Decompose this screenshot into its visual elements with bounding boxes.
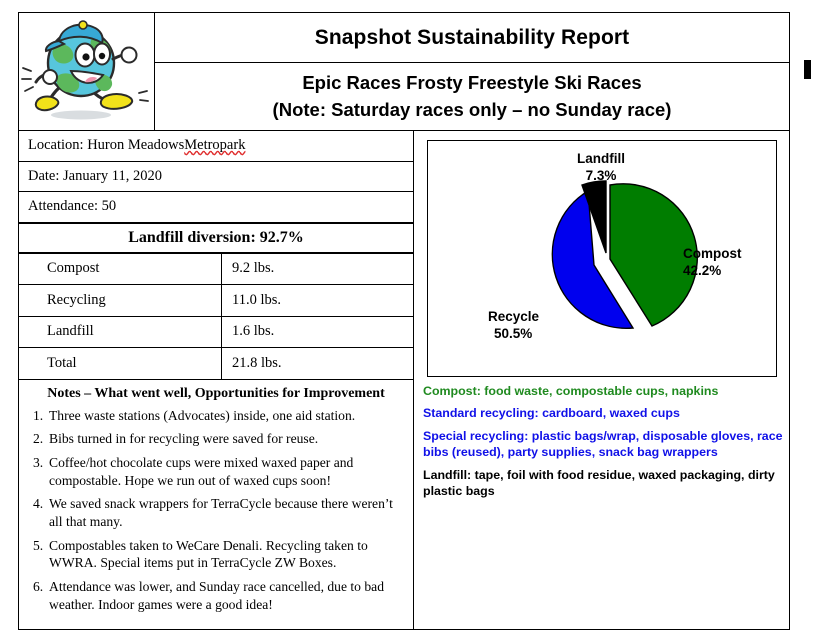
note-number: 6. — [29, 578, 49, 613]
pie-chart-svg: Landfill 7.3% Compost 42.2% Recycle 50.5… — [428, 141, 775, 375]
list-item: 3. Coffee/hot chocolate cups were mixed … — [29, 454, 403, 489]
notes-section: Notes – What went well, Opportunities fo… — [19, 380, 413, 630]
page-title: Snapshot Sustainability Report — [155, 13, 789, 63]
report-body: Location: Huron Meadows Metropark Date: … — [19, 131, 789, 629]
note-number: 1. — [29, 407, 49, 425]
weights-value: 9.2 lbs. — [222, 260, 413, 277]
note-number: 2. — [29, 430, 49, 448]
table-row: Compost 9.2 lbs. — [19, 254, 413, 286]
date-row: Date: January 11, 2020 — [19, 162, 413, 193]
note-text: Coffee/hot chocolate cups were mixed wax… — [49, 454, 403, 489]
legend-compost: Compost: food waste, compostable cups, n… — [423, 383, 791, 399]
legend-landfill: Landfill: tape, foil with food residue, … — [423, 467, 791, 500]
weights-label: Recycling — [19, 285, 222, 316]
note-text: Bibs turned in for recycling were saved … — [49, 430, 403, 448]
materials-legend: Compost: food waste, compostable cups, n… — [423, 383, 791, 505]
list-item: 4. We saved snack wrappers for TerraCycl… — [29, 495, 403, 530]
event-title-line2: (Note: Saturday races only – no Sunday r… — [273, 97, 672, 123]
attendance-row: Attendance: 50 — [19, 192, 413, 223]
report-header: Snapshot Sustainability Report Epic Race… — [19, 13, 789, 131]
note-number: 4. — [29, 495, 49, 530]
note-text: Compostables taken to WeCare Denali. Rec… — [49, 537, 403, 572]
note-text: We saved snack wrappers for TerraCycle b… — [49, 495, 403, 530]
list-item: 2. Bibs turned in for recycling were sav… — [29, 430, 403, 448]
weights-value: 1.6 lbs. — [222, 323, 413, 340]
notes-title: Notes – What went well, Opportunities fo… — [29, 386, 403, 402]
pie-label-landfill-pct: 7.3% — [586, 168, 617, 183]
list-item: 1. Three waste stations (Advocates) insi… — [29, 407, 403, 425]
weights-table: Compost 9.2 lbs. Recycling 11.0 lbs. Lan… — [19, 254, 413, 380]
pie-label-recycle-pct: 50.5% — [494, 326, 532, 341]
table-row: Recycling 11.0 lbs. — [19, 285, 413, 317]
pie-label-compost-name: Compost — [683, 246, 742, 261]
report-page: Snapshot Sustainability Report Epic Race… — [0, 0, 821, 643]
weights-label: Compost — [19, 254, 222, 285]
legend-special-recycling: Special recycling: plastic bags/wrap, di… — [423, 428, 791, 461]
table-row: Landfill 1.6 lbs. — [19, 317, 413, 349]
pie-label-landfill-name: Landfill — [577, 151, 625, 166]
running-globe-mascot-icon — [19, 13, 153, 128]
event-title-line1: Epic Races Frosty Freestyle Ski Races — [302, 70, 641, 96]
note-number: 3. — [29, 454, 49, 489]
logo-cell — [19, 13, 155, 130]
location-value-misspelled: Metropark — [184, 137, 245, 154]
list-item: 6. Attendance was lower, and Sunday race… — [29, 578, 403, 613]
weights-value: 11.0 lbs. — [222, 292, 413, 309]
right-column: Landfill 7.3% Compost 42.2% Recycle 50.5… — [414, 131, 789, 629]
note-text: Three waste stations (Advocates) inside,… — [49, 407, 403, 425]
location-row: Location: Huron Meadows Metropark — [19, 131, 413, 162]
event-title: Epic Races Frosty Freestyle Ski Races (N… — [155, 63, 789, 130]
left-column: Location: Huron Meadows Metropark Date: … — [19, 131, 414, 629]
pie-label-recycle-name: Recycle — [488, 309, 540, 324]
waste-diversion-pie-chart: Landfill 7.3% Compost 42.2% Recycle 50.5… — [427, 140, 777, 377]
list-item: 5. Compostables taken to WeCare Denali. … — [29, 537, 403, 572]
table-row: Total 21.8 lbs. — [19, 348, 413, 380]
legend-standard-recycling: Standard recycling: cardboard, waxed cup… — [423, 405, 791, 421]
weights-value: 21.8 lbs. — [222, 355, 413, 372]
weights-label: Landfill — [19, 317, 222, 348]
note-text: Attendance was lower, and Sunday race ca… — [49, 578, 403, 613]
landfill-diversion-row: Landfill diversion: 92.7% — [19, 222, 413, 254]
page-edge-marker — [804, 60, 811, 79]
header-titles: Snapshot Sustainability Report Epic Race… — [155, 13, 789, 130]
note-number: 5. — [29, 537, 49, 572]
report-frame: Snapshot Sustainability Report Epic Race… — [18, 12, 790, 630]
weights-label: Total — [19, 348, 222, 379]
pie-label-compost-pct: 42.2% — [683, 263, 721, 278]
location-label: Location: Huron Meadows — [28, 137, 184, 154]
